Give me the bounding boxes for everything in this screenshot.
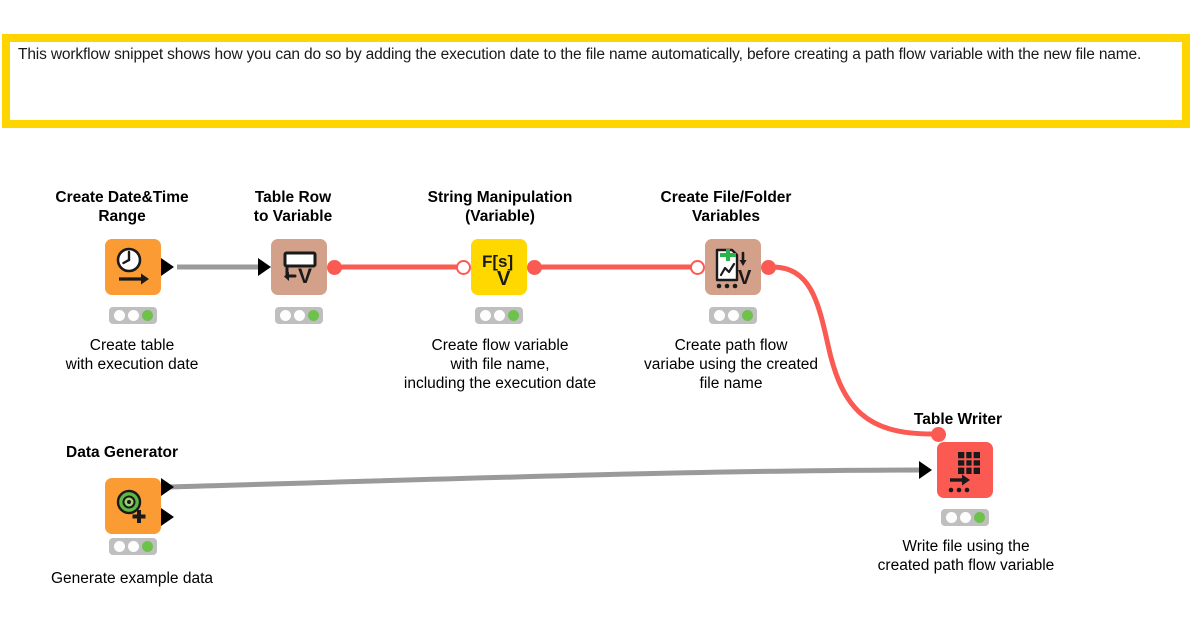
port-out-flowvar-table-row-to-variable[interactable] bbox=[327, 260, 342, 275]
node-body-create-date-time-range[interactable] bbox=[105, 239, 161, 295]
port-out-data-create-date-time-range[interactable] bbox=[161, 258, 174, 276]
node-body-data-generator[interactable] bbox=[105, 478, 161, 534]
status-dot-configured bbox=[128, 310, 139, 321]
status-dot-configured bbox=[728, 310, 739, 321]
status-dot-executed bbox=[974, 512, 985, 523]
workflow-annotation-box[interactable]: This workflow snippet shows how you can … bbox=[2, 34, 1190, 128]
node-status-string-manipulation-variable bbox=[475, 307, 523, 324]
status-dot-executed bbox=[142, 310, 153, 321]
port-in-flowvar-string-manipulation-variable[interactable] bbox=[456, 260, 471, 275]
node-title-data-generator: Data Generator bbox=[32, 443, 212, 462]
data-generator-icon bbox=[105, 478, 161, 534]
status-dot-idle bbox=[714, 310, 725, 321]
node-status-table-row-to-variable bbox=[275, 307, 323, 324]
svg-text:V: V bbox=[298, 265, 312, 288]
node-body-create-file-folder-variables[interactable]: V bbox=[705, 239, 761, 295]
port-out-data-2-data-generator[interactable] bbox=[161, 508, 174, 526]
node-status-create-file-folder-variables bbox=[709, 307, 757, 324]
node-status-table-writer bbox=[941, 509, 989, 526]
node-description-string-manipulation-variable: Create flow variable with file name, inc… bbox=[372, 336, 628, 393]
connection-datagenerator-to-tablewriter bbox=[168, 470, 922, 487]
port-in-flowvar-table-writer[interactable] bbox=[931, 427, 946, 442]
node-description-table-writer: Write file using the created path flow v… bbox=[850, 537, 1082, 575]
status-dot-executed bbox=[308, 310, 319, 321]
file-plus-variable-icon: V bbox=[705, 239, 761, 295]
node-title-table-writer: Table Writer bbox=[878, 410, 1038, 429]
status-dot-executed bbox=[742, 310, 753, 321]
port-out-flowvar-string-manipulation-variable[interactable] bbox=[527, 260, 542, 275]
node-title-create-file-folder-variables: Create File/Folder Variables bbox=[620, 188, 832, 226]
node-description-data-generator: Generate example data bbox=[22, 569, 242, 588]
status-dot-idle bbox=[480, 310, 491, 321]
port-in-data-table-writer[interactable] bbox=[919, 461, 932, 479]
node-description-create-file-folder-variables: Create path flow variabe using the creat… bbox=[617, 336, 845, 393]
node-status-create-date-time-range bbox=[109, 307, 157, 324]
port-out-flowvar-create-file-folder-variables[interactable] bbox=[761, 260, 776, 275]
svg-text:V: V bbox=[497, 268, 511, 290]
status-dot-configured bbox=[128, 541, 139, 552]
svg-text:V: V bbox=[738, 267, 752, 289]
status-dot-idle bbox=[280, 310, 291, 321]
status-dot-executed bbox=[508, 310, 519, 321]
status-dot-configured bbox=[294, 310, 305, 321]
node-title-table-row-to-variable: Table Row to Variable bbox=[208, 188, 378, 226]
port-in-flowvar-create-file-folder-variables[interactable] bbox=[690, 260, 705, 275]
node-status-data-generator bbox=[109, 538, 157, 555]
node-body-string-manipulation-variable[interactable]: F[s] V bbox=[471, 239, 527, 295]
node-body-table-row-to-variable[interactable]: V bbox=[271, 239, 327, 295]
function-fs-variable-icon: F[s] V bbox=[471, 239, 527, 295]
status-dot-idle bbox=[114, 541, 125, 552]
status-dot-idle bbox=[114, 310, 125, 321]
table-write-icon bbox=[937, 442, 993, 498]
node-title-string-manipulation-variable: String Manipulation (Variable) bbox=[375, 188, 625, 226]
clock-arrow-icon bbox=[105, 239, 161, 295]
status-dot-configured bbox=[494, 310, 505, 321]
port-in-data-table-row-to-variable[interactable] bbox=[258, 258, 271, 276]
port-out-data-1-data-generator[interactable] bbox=[161, 478, 174, 496]
status-dot-configured bbox=[960, 512, 971, 523]
node-description-create-date-time-range: Create table with execution date bbox=[22, 336, 242, 374]
workflow-annotation-text: This workflow snippet shows how you can … bbox=[18, 44, 1186, 65]
status-dot-executed bbox=[142, 541, 153, 552]
node-body-table-writer[interactable] bbox=[937, 442, 993, 498]
status-dot-idle bbox=[946, 512, 957, 523]
node-title-create-date-time-range: Create Date&Time Range bbox=[22, 188, 222, 226]
table-row-to-variable-icon: V bbox=[271, 239, 327, 295]
